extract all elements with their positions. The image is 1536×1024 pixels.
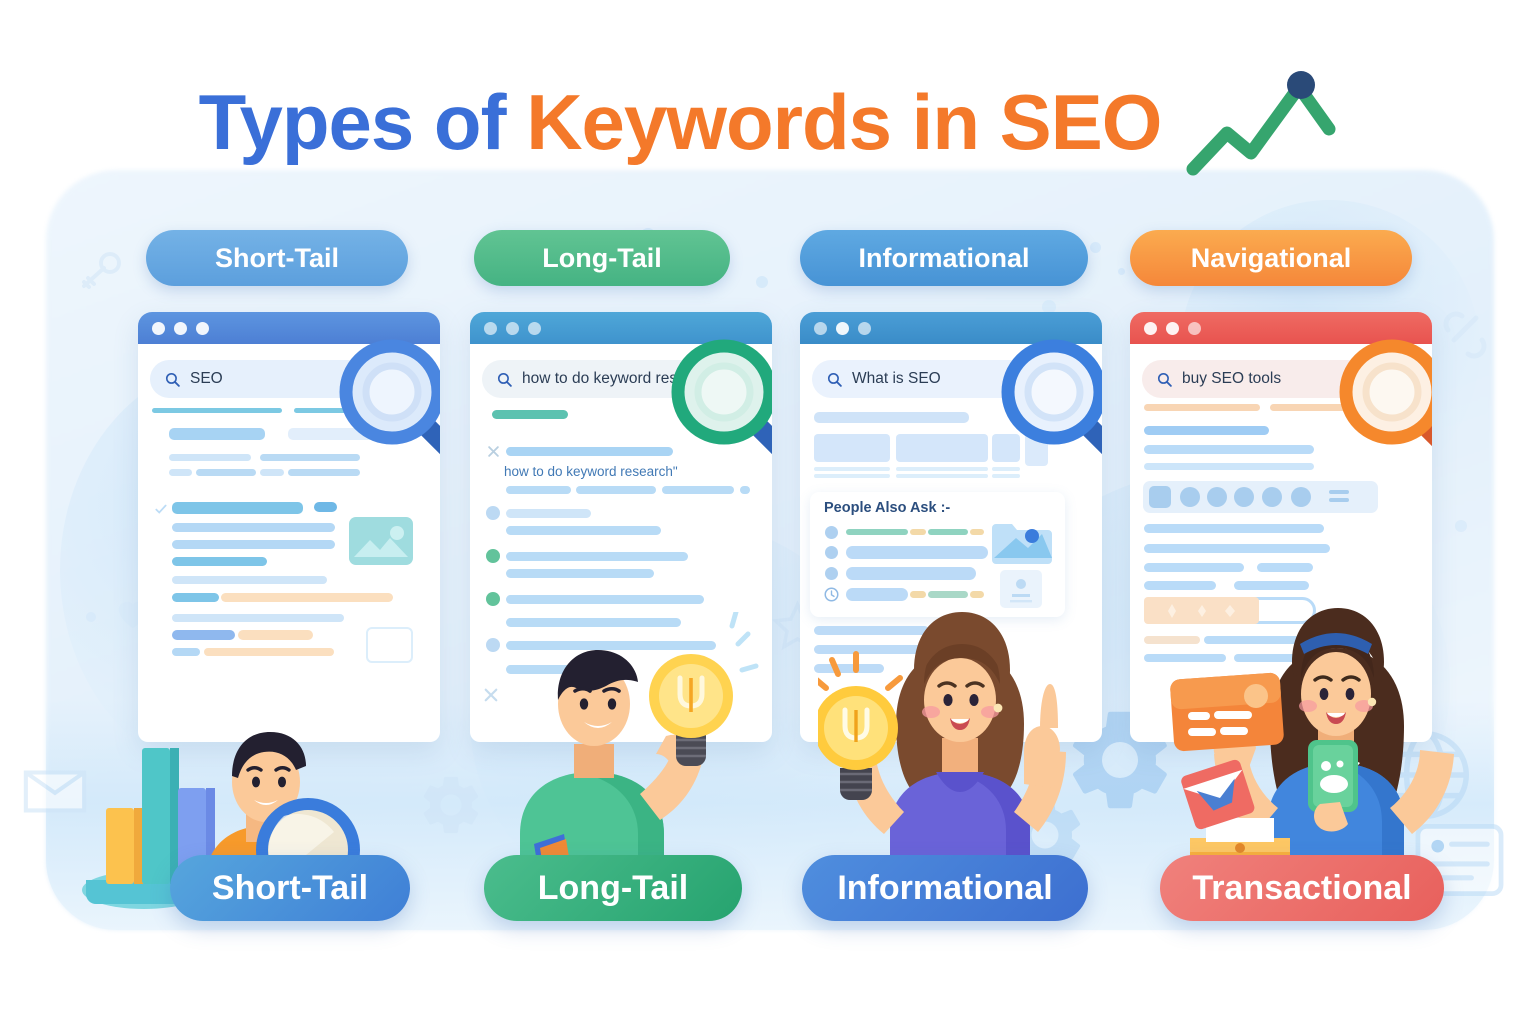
pill-top-long-tail[interactable]: Long-Tail: [474, 230, 730, 286]
magnifier-icon[interactable]: [662, 330, 772, 460]
magnifier-icon[interactable]: [330, 330, 440, 460]
pill-top-label: Informational: [858, 243, 1029, 274]
pill-bottom-long-tail[interactable]: Long-Tail: [484, 855, 742, 921]
decor-dot: [1455, 520, 1467, 532]
pill-bottom-short-tail[interactable]: Short-Tail: [170, 855, 410, 921]
window-dot-icon[interactable]: [152, 322, 165, 335]
clock-icon: [824, 587, 839, 602]
check-icon: [154, 502, 168, 516]
avatar: [1180, 487, 1200, 507]
window-dot-icon[interactable]: [836, 322, 849, 335]
window-dot-icon[interactable]: [196, 322, 209, 335]
pill-top-label: Navigational: [1191, 243, 1352, 274]
pill-bottom-label: Short-Tail: [212, 869, 368, 908]
window-dot-icon[interactable]: [1166, 322, 1179, 335]
window-dot-icon[interactable]: [814, 322, 827, 335]
title-part-1: Types of: [199, 78, 527, 166]
bullet-dot-icon: [486, 549, 500, 563]
image-placeholder-icon: [349, 517, 413, 565]
pill-top-label: Long-Tail: [542, 243, 661, 274]
avatar-square: [1149, 486, 1171, 508]
thumbnail-frame: [366, 627, 413, 663]
menu-line: [1329, 498, 1349, 502]
magnifier-icon[interactable]: [1330, 330, 1432, 460]
window-dot-icon[interactable]: [1188, 322, 1201, 335]
window-dot-icon[interactable]: [506, 322, 519, 335]
pill-top-label: Short-Tail: [215, 243, 339, 274]
pill-top-navigational[interactable]: Navigational: [1130, 230, 1412, 286]
title-row: Types of Keywords in SEO: [0, 62, 1536, 182]
search-query-text: buy SEO tools: [1182, 370, 1281, 388]
infographic-canvas: Types of Keywords in SEO Short-Tail SEO: [0, 0, 1536, 1024]
title-part-2: Keywords in SEO: [526, 78, 1161, 166]
column-short-tail: Short-Tail SEO: [138, 230, 448, 742]
bullet-dot-icon: [825, 526, 838, 539]
bullet-dot-icon: [486, 506, 500, 520]
bullet-dot-icon: [486, 592, 500, 606]
key-icon: [70, 240, 130, 300]
browser-card-short-tail: SEO: [138, 312, 440, 742]
search-icon: [496, 371, 513, 388]
pill-bottom-label: Transactional: [1192, 869, 1411, 908]
pill-bottom-informational[interactable]: Informational: [802, 855, 1088, 921]
pill-bottom-transactional[interactable]: Transactional: [1160, 855, 1444, 921]
people-also-ask-card: People Also Ask :-: [810, 492, 1065, 617]
pill-bottom-label: Long-Tail: [538, 869, 688, 908]
window-dot-icon[interactable]: [174, 322, 187, 335]
pill-bottom-label: Informational: [837, 869, 1052, 908]
folder-image-icon: [990, 518, 1052, 564]
search-icon: [164, 371, 181, 388]
avatar-row: [1143, 481, 1378, 513]
search-icon: [1156, 371, 1173, 388]
window-dot-icon[interactable]: [484, 322, 497, 335]
people-also-ask-title: People Also Ask :-: [824, 500, 950, 516]
search-query-text: SEO: [190, 370, 223, 388]
search-query-text: What is SEO: [852, 370, 941, 388]
window-dot-icon[interactable]: [858, 322, 871, 335]
trend-up-icon: [1185, 67, 1337, 177]
bullet-dot-icon: [825, 567, 838, 580]
avatar: [1262, 487, 1282, 507]
magnifier-icon[interactable]: [992, 330, 1102, 460]
link-icon: [1430, 300, 1500, 370]
suggested-result-text: how to do keyword research": [504, 464, 678, 479]
avatar: [1291, 487, 1311, 507]
decor-dot: [86, 612, 96, 622]
bullet-dot-icon: [825, 546, 838, 559]
decor-dot: [1118, 268, 1125, 275]
avatar: [1207, 487, 1227, 507]
credit-card-icon: [1170, 672, 1285, 751]
avatar: [1234, 487, 1254, 507]
search-icon: [826, 371, 843, 388]
person-card-icon: [1000, 570, 1042, 608]
page-title: Types of Keywords in SEO: [199, 83, 1162, 161]
pill-top-short-tail[interactable]: Short-Tail: [146, 230, 408, 286]
window-dot-icon[interactable]: [528, 322, 541, 335]
menu-line: [1329, 490, 1349, 494]
close-icon[interactable]: [486, 444, 501, 459]
window-dot-icon[interactable]: [1144, 322, 1157, 335]
phone-icon: [1308, 740, 1358, 812]
pill-top-informational[interactable]: Informational: [800, 230, 1088, 286]
